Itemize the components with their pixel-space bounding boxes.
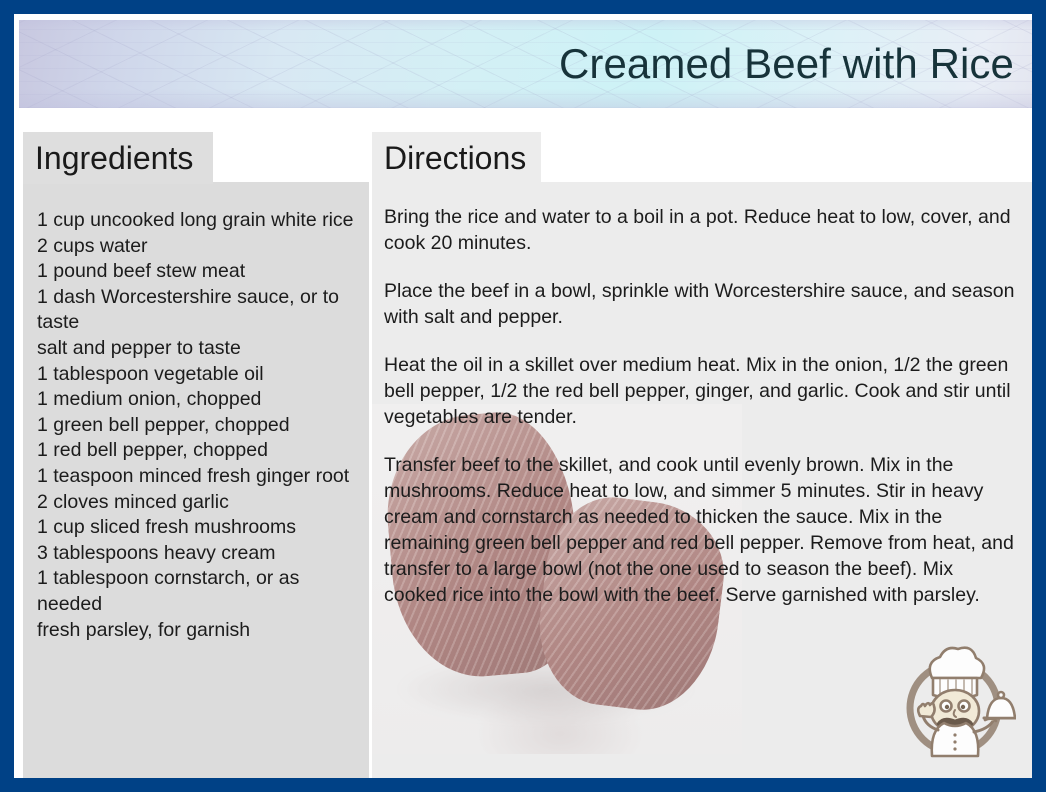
ingredients-panel: 1 cup uncooked long grain white rice2 cu… (23, 182, 369, 792)
ingredient-item: salt and pepper to taste (37, 336, 359, 362)
ingredient-item: 1 pound beef stew meat (37, 259, 359, 285)
ingredient-item: 1 cup uncooked long grain white rice (37, 208, 359, 234)
ingredient-item: 1 cup sliced fresh mushrooms (37, 515, 359, 541)
ingredient-item: 1 medium onion, chopped (37, 387, 359, 413)
directions-text: Bring the rice and water to a boil in a … (372, 182, 1032, 608)
ingredient-item: 2 cloves minced garlic (37, 490, 359, 516)
title-banner: Creamed Beef with Rice (19, 20, 1032, 108)
recipe-card-inner: Creamed Beef with Rice Ingredients Direc… (14, 14, 1032, 778)
directions-heading: Directions (372, 132, 541, 184)
ingredients-heading: Ingredients (23, 132, 213, 184)
ingredient-item: 1 green bell pepper, chopped (37, 413, 359, 439)
direction-step: Place the beef in a bowl, sprinkle with … (384, 278, 1016, 330)
direction-step: Transfer beef to the skillet, and cook u… (384, 452, 1016, 608)
direction-step: Bring the rice and water to a boil in a … (384, 204, 1016, 256)
ingredient-item: 1 tablespoon cornstarch, or as needed (37, 566, 359, 617)
recipe-card: Creamed Beef with Rice Ingredients Direc… (0, 0, 1046, 792)
ingredient-item: 1 red bell pepper, chopped (37, 438, 359, 464)
ingredient-item: 3 tablespoons heavy cream (37, 541, 359, 567)
ingredients-heading-label: Ingredients (35, 140, 193, 177)
ingredient-item: 1 teaspoon minced fresh ginger root (37, 464, 359, 490)
direction-step: Heat the oil in a skillet over medium he… (384, 352, 1016, 430)
chef-with-cloche-logo (892, 642, 1016, 766)
directions-heading-label: Directions (384, 140, 526, 177)
ingredient-item: 1 dash Worcestershire sauce, or to taste (37, 285, 359, 336)
ingredient-item: 1 tablespoon vegetable oil (37, 362, 359, 388)
ingredient-item: fresh parsley, for garnish (37, 618, 359, 644)
ingredient-item: 2 cups water (37, 234, 359, 260)
page-title: Creamed Beef with Rice (559, 40, 1014, 88)
ingredients-list: 1 cup uncooked long grain white rice2 cu… (23, 182, 369, 643)
